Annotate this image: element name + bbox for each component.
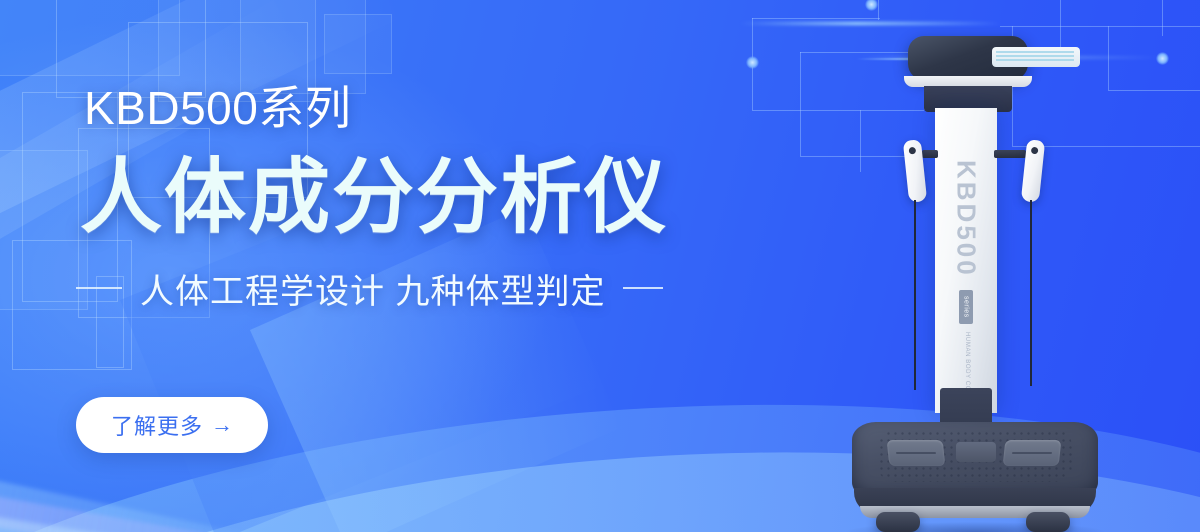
hero-banner: KBD500系列 人体成分分析仪 人体工程学设计 九种体型判定 了解更多 → K…	[0, 0, 1200, 532]
device-arm-right	[994, 150, 1026, 158]
trace	[878, 0, 879, 20]
device-cable-right	[1030, 200, 1032, 386]
circuit-node-icon	[865, 0, 878, 11]
foot-electrode-left	[887, 440, 946, 466]
device-cable-left	[914, 200, 916, 390]
dash-left-decoration	[76, 287, 122, 289]
learn-more-button[interactable]: 了解更多 →	[76, 397, 268, 453]
product-image-body-composition-analyzer: KBD500 series HUMAN BODY COMPOSITION ANA…	[840, 36, 1110, 532]
device-handle-left	[903, 139, 927, 203]
device-screen	[992, 47, 1080, 67]
device-series-badge: series	[959, 290, 973, 324]
foot-electrode-right	[1003, 440, 1062, 466]
trace	[752, 18, 753, 110]
handle-electrode-icon	[909, 147, 917, 155]
pad-line	[896, 452, 936, 454]
device-display-bezel	[908, 36, 1028, 80]
device-brand-text: KBD500	[951, 160, 982, 278]
pad-line	[1012, 452, 1052, 454]
subtitle-text: 人体工程学设计 九种体型判定	[140, 264, 605, 313]
page-title: 人体成分分析仪	[80, 130, 668, 249]
trace	[1162, 0, 1163, 36]
hero-copy: KBD500系列 人体成分分析仪 人体工程学设计 九种体型判定 了解更多 →	[0, 0, 700, 532]
device-brand-label: KBD500	[935, 154, 997, 284]
device-foot-left	[876, 512, 920, 532]
arrow-right-icon: →	[211, 414, 233, 436]
kicker-text: KBD500系列	[84, 72, 351, 138]
device-arm-left	[922, 150, 938, 158]
handle-electrode-icon	[1031, 147, 1039, 155]
glow-streak	[740, 22, 1000, 25]
device-foot-right	[1026, 512, 1070, 532]
device-series-text: series	[963, 296, 970, 318]
trace	[1108, 90, 1200, 91]
trace	[800, 52, 801, 156]
screen-content-lines	[996, 51, 1074, 61]
trace	[752, 18, 880, 19]
subtitle-row: 人体工程学设计 九种体型判定	[76, 263, 656, 313]
device-column: KBD500 series HUMAN BODY COMPOSITION ANA…	[935, 108, 997, 413]
circuit-node-icon	[1156, 52, 1169, 65]
device-handle-right	[1021, 139, 1045, 203]
trace	[1000, 26, 1200, 27]
dash-right-decoration	[623, 287, 663, 289]
base-center-plate	[956, 442, 996, 462]
learn-more-label: 了解更多	[111, 409, 203, 441]
circuit-node-icon	[746, 56, 759, 69]
